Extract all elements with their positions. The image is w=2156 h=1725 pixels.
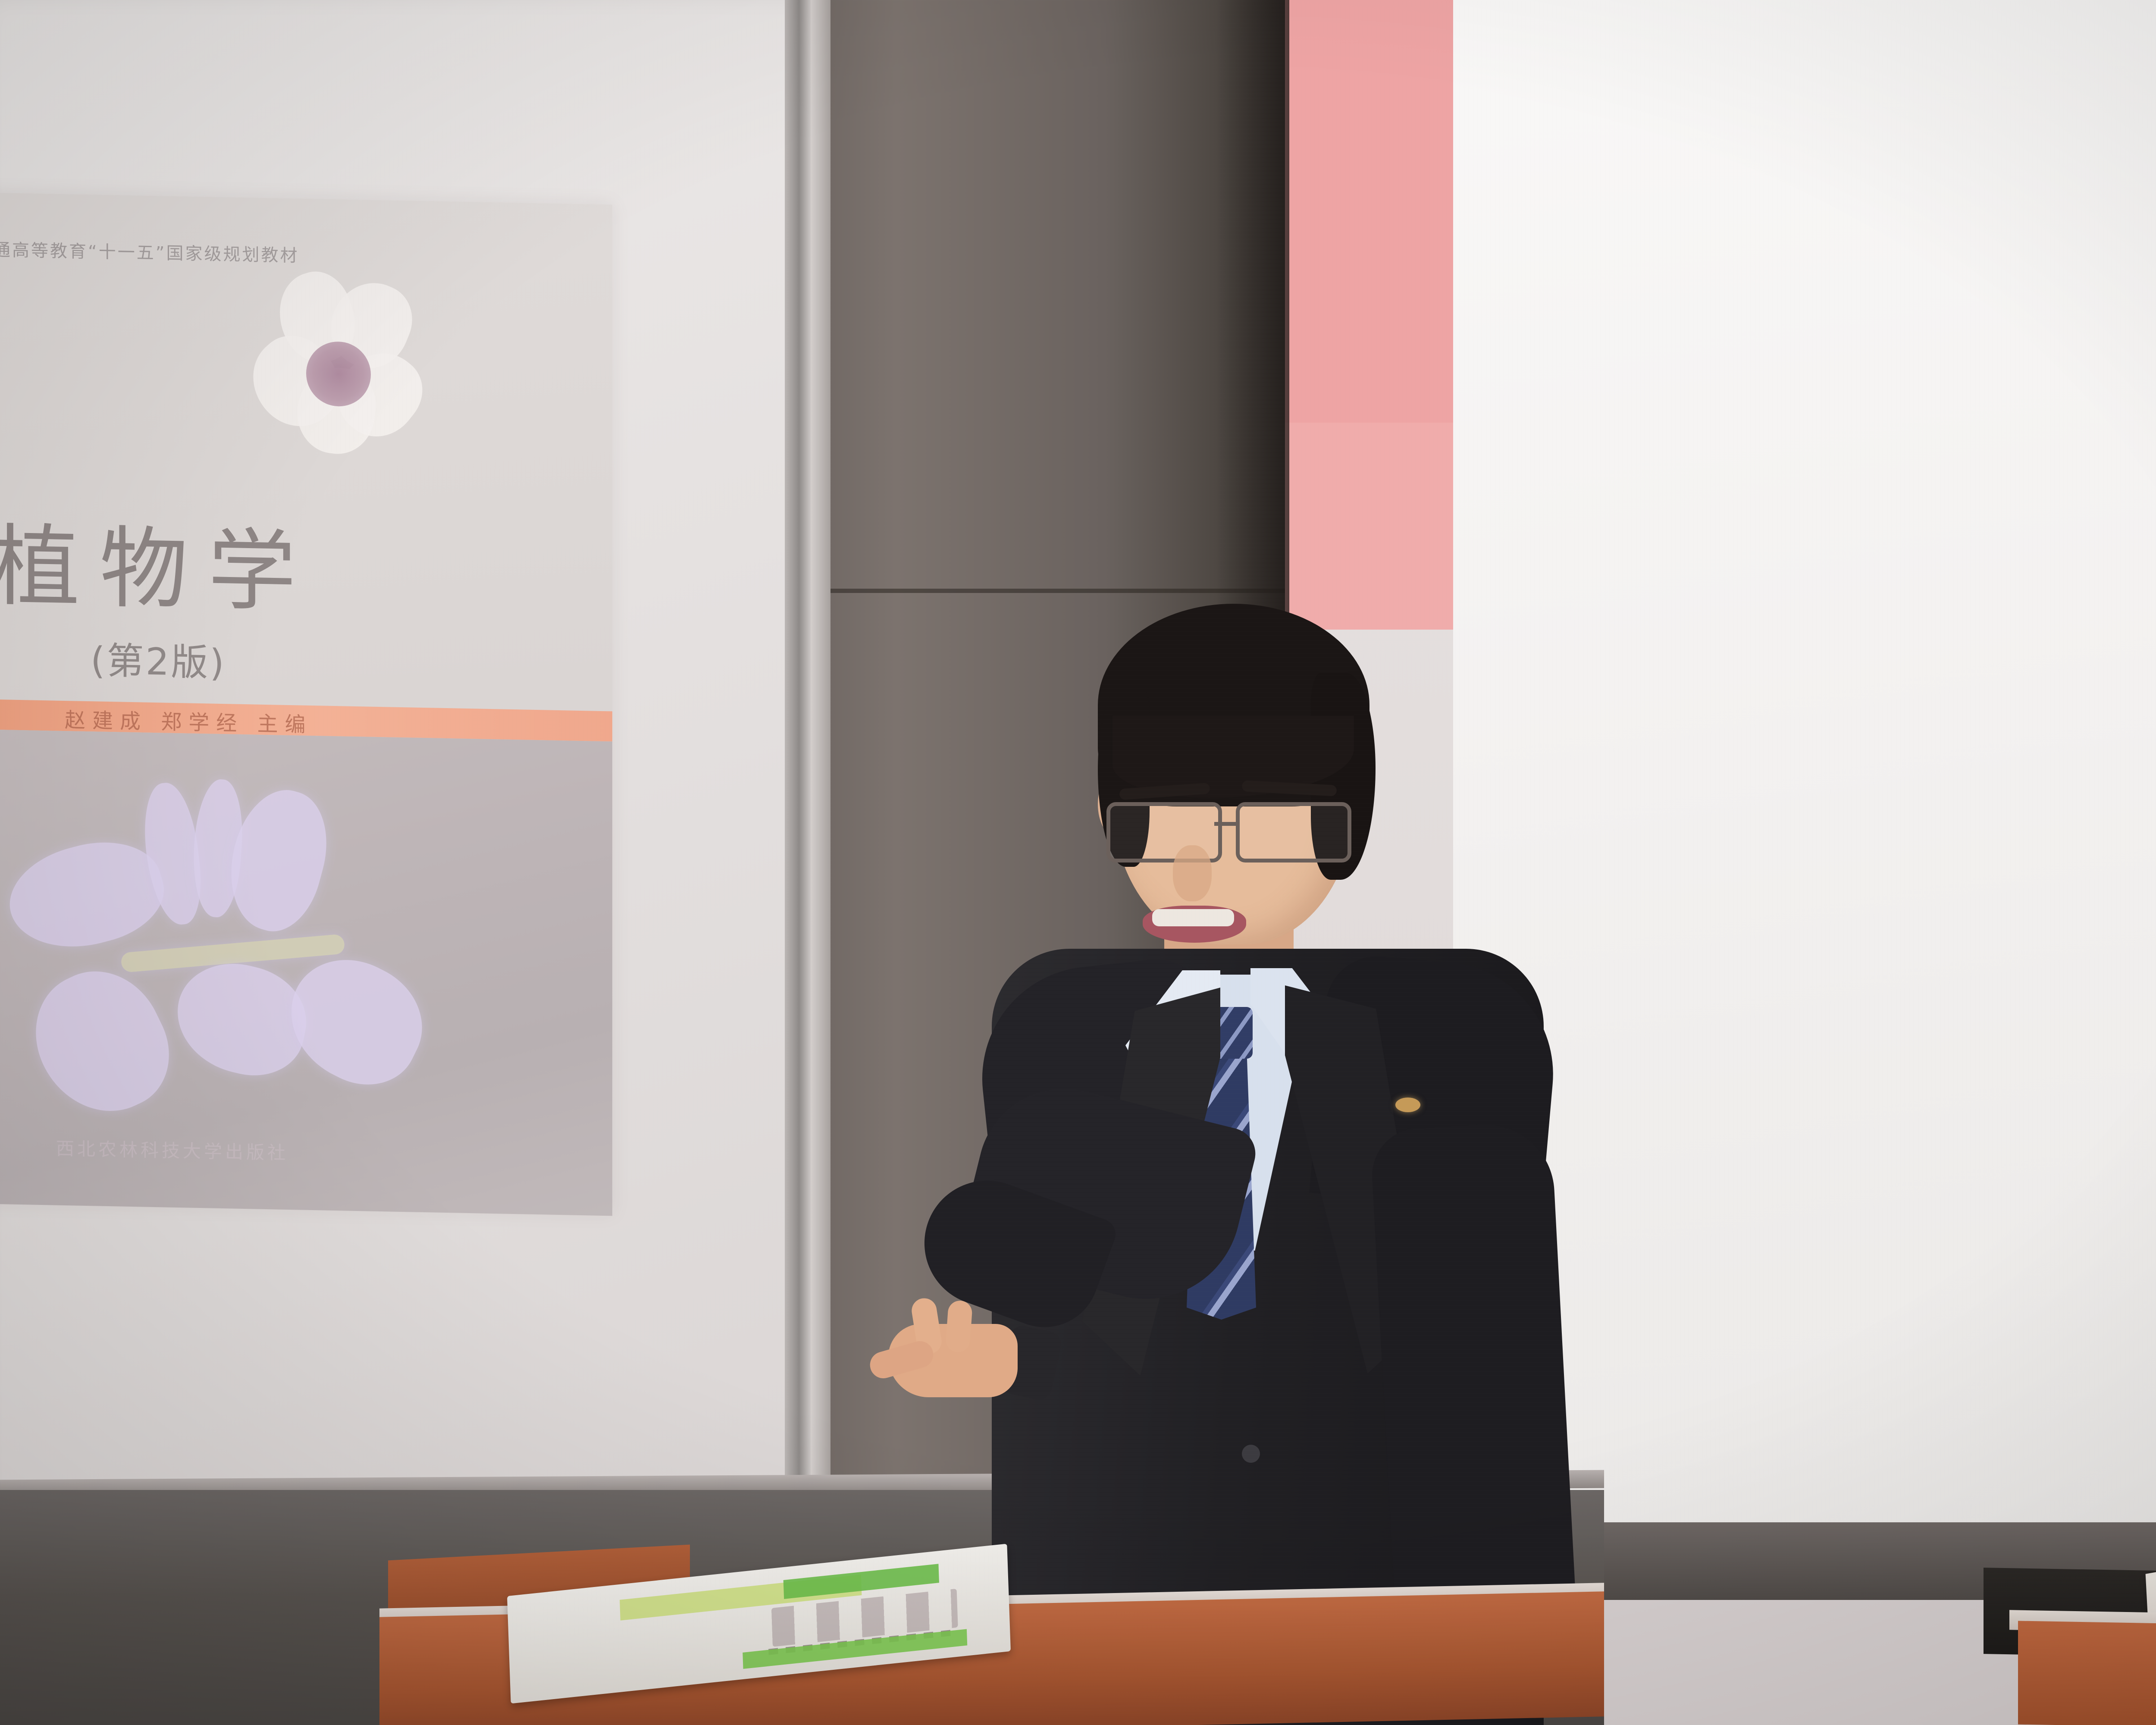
book-title: 植物学 [0,495,466,632]
book-series-banner: 普通高等教育“十一五”国家级规划教材 [0,235,612,275]
glasses-bridge [1214,822,1236,826]
hand-left-gesture [862,1298,1044,1410]
lecture-photo-scene: 普通高等教育“十一五”国家级规划教材 植物学 (第2版) 赵建成 郑学经 主编 [0,0,2156,1725]
lapel-pin-icon [1395,1098,1420,1112]
finger-middle [945,1300,973,1353]
cover-blossom-icon [241,271,423,460]
pillar-left-edge [811,0,830,1531]
iris-flower-illustration [0,766,474,1147]
book-edition: (第2版) [91,630,226,687]
book-publisher: 西北农林科技大学出版社 [56,1134,288,1165]
presenter [940,586,1699,1725]
projected-pink-band-right-deep [1276,0,1457,423]
book-cover-slide: 普通高等教育“十一五”国家级规划教材 植物学 (第2版) 赵建成 郑学经 主编 [0,192,612,1214]
left-projection-screen: 普通高等教育“十一五”国家级规划教材 植物学 (第2版) 赵建成 郑学经 主编 [0,0,815,1514]
left-screen-frame [785,0,811,1531]
teeth [1152,909,1234,926]
front-right-desk [2018,1621,2156,1725]
suit-button-upper [1242,1445,1260,1463]
glasses-lens-right [1236,802,1351,862]
nose [1173,845,1212,901]
glasses-icon [1106,802,1374,858]
